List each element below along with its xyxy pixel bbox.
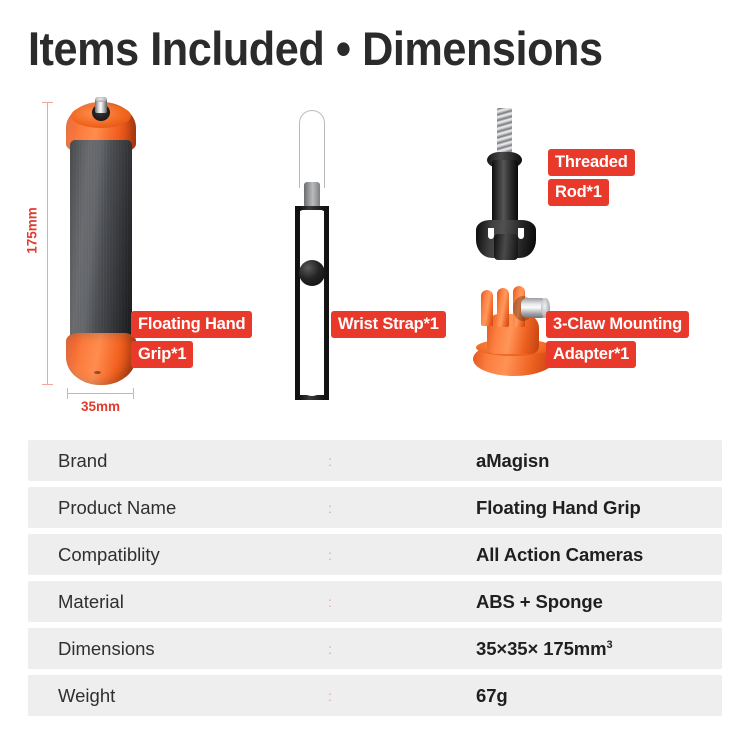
spec-value: 35×35× 175mm3 <box>358 638 722 660</box>
callout-line: Threaded <box>548 149 635 176</box>
width-dimension-label: 35mm <box>67 399 134 414</box>
spec-label: Material <box>28 591 328 613</box>
product-illustration-stage: 175mm 35mm F <box>0 86 750 426</box>
spec-label: Brand <box>28 450 328 472</box>
spec-value: ABS + Sponge <box>358 591 722 613</box>
height-dimension-line <box>47 102 48 385</box>
spec-value-superscript: 3 <box>606 638 612 650</box>
callout-line: Floating Hand <box>131 311 252 338</box>
callout-line: Rod*1 <box>548 179 609 206</box>
spec-separator: : <box>328 547 358 563</box>
spec-value: All Action Cameras <box>358 544 722 566</box>
wrist-strap-image <box>287 110 337 400</box>
callout-wrist-strap: Wrist Strap*1 <box>331 311 446 338</box>
rod-wing-base <box>476 220 536 258</box>
spec-label: Dimensions <box>28 638 328 660</box>
spec-value: 67g <box>358 685 722 707</box>
table-row: Product Name : Floating Hand Grip <box>28 487 722 528</box>
spec-value-text: 35×35× 175mm <box>476 638 606 659</box>
table-row: Dimensions : 35×35× 175mm3 <box>28 628 722 669</box>
callout-threaded-rod: Threaded Rod*1 <box>548 149 635 206</box>
table-row: Compatiblity : All Action Cameras <box>28 534 722 575</box>
rod-base-notch-right <box>518 228 524 239</box>
spec-separator: : <box>328 688 358 704</box>
strap-metal-crimp <box>304 182 320 208</box>
grip-foam-body <box>70 140 132 352</box>
callout-line: Adapter*1 <box>546 341 636 368</box>
specification-table: Brand : aMagisn Product Name : Floating … <box>28 440 722 722</box>
rod-screw-thread <box>497 108 512 156</box>
adapter-thumbscrew <box>521 298 547 318</box>
floating-hand-grip-image <box>66 102 136 385</box>
callout-claw-adapter: 3-Claw Mounting Adapter*1 <box>546 311 689 368</box>
spec-separator: : <box>328 453 358 469</box>
callout-line: Grip*1 <box>131 341 193 368</box>
spec-label: Product Name <box>28 497 328 519</box>
spec-label: Compatiblity <box>28 544 328 566</box>
callout-line: Wrist Strap*1 <box>331 311 446 338</box>
grip-bottom-cap <box>66 333 136 385</box>
spec-separator: : <box>328 641 358 657</box>
adapter-claw-fin-1 <box>481 290 493 326</box>
spec-label: Weight <box>28 685 328 707</box>
rod-shaft <box>492 160 518 228</box>
rod-base-notch-left <box>488 228 494 239</box>
callout-floating-hand-grip: Floating Hand Grip*1 <box>131 311 252 368</box>
grip-screw-pin-icon <box>95 97 107 113</box>
callout-line: 3-Claw Mounting <box>546 311 689 338</box>
adapter-claw-fin-2 <box>497 288 509 327</box>
height-dimension-label: 175mm <box>25 196 40 266</box>
strap-adjuster-bead <box>299 260 325 286</box>
table-row: Material : ABS + Sponge <box>28 581 722 622</box>
table-row: Weight : 67g <box>28 675 722 716</box>
page-title: Items Included • Dimensions <box>28 21 603 77</box>
spec-separator: : <box>328 594 358 610</box>
spec-value: Floating Hand Grip <box>358 497 722 519</box>
strap-cord-loop-hole <box>300 210 324 396</box>
spec-separator: : <box>328 500 358 516</box>
spec-value: aMagisn <box>358 450 722 472</box>
table-row: Brand : aMagisn <box>28 440 722 481</box>
threaded-rod-image <box>470 108 542 268</box>
width-dimension-line <box>67 393 134 394</box>
strap-wire-loop <box>299 110 325 188</box>
